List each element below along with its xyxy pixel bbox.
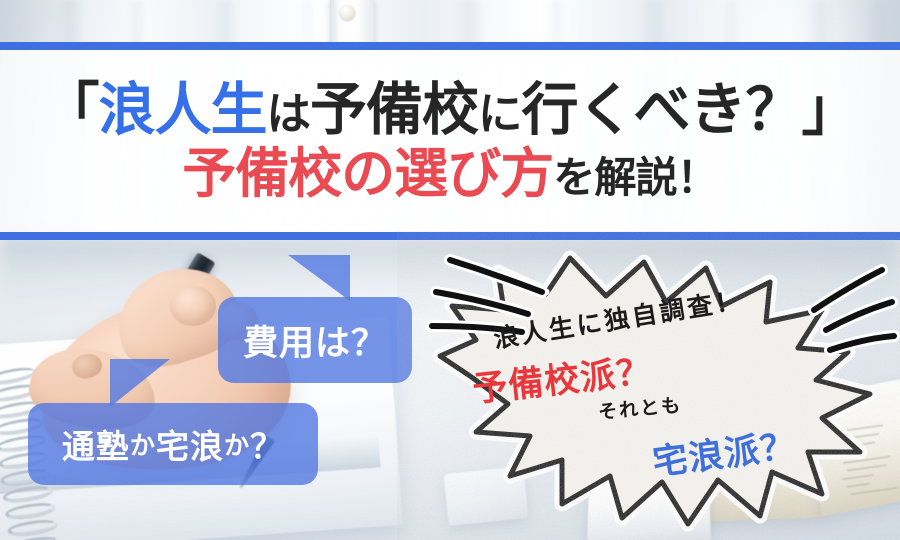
burst-option-blue: 宅浪派？ <box>649 417 798 485</box>
comic-burst: 浪人生に独自調査！ 予備校派？ それとも 宅浪派？ <box>430 248 900 540</box>
bubble-cost-tail <box>274 255 350 301</box>
spiral-coil <box>5 500 56 520</box>
bottom-accent-bar <box>0 232 900 240</box>
bubble-cost-label: 費用は？ <box>243 315 387 366</box>
bubble-juku-small1: か <box>130 426 156 462</box>
title-close-bracket: 」 <box>801 77 857 143</box>
bubble-cost[interactable]: 費用は？ <box>218 297 412 383</box>
title-highlight: 浪人生 <box>99 77 267 143</box>
title-particle-wa: は <box>267 89 310 140</box>
title-line-2: 予備校の選び方を解説！ <box>182 146 717 201</box>
title-particle-ni: に <box>478 89 521 140</box>
bubble-juku-mark: ？ <box>250 420 284 468</box>
bubble-study-style[interactable]: 通塾か宅浪か？ <box>28 403 318 485</box>
spiral-coil <box>7 517 58 537</box>
subtitle-red: 予備校の選び方 <box>182 142 553 205</box>
title-word-iku: 行くべき？ <box>521 77 801 143</box>
burst-text-group: 浪人生に独自調査！ 予備校派？ それとも 宅浪派？ <box>430 248 900 540</box>
title-open-bracket: 「 <box>43 77 99 143</box>
bubble-juku-mid: 宅浪 <box>156 420 224 468</box>
bubble-juku-small2: か <box>224 426 250 462</box>
banner-stage: 「浪人生は予備校に行くべき？」 予備校の選び方を解説！ 費用は？ 通塾か宅浪か？ <box>0 0 900 540</box>
knuckle <box>170 286 216 326</box>
spiral-coil <box>9 534 60 540</box>
bubble-juku-head: 通塾 <box>62 420 130 468</box>
title-line-1: 「浪人生は予備校に行くべき？」 <box>43 81 858 139</box>
top-accent-bar <box>0 42 900 50</box>
shirt-button <box>340 5 355 20</box>
burst-connector: それとも <box>597 390 683 424</box>
title-word-yobiko: 予備校 <box>310 77 478 143</box>
subtitle-black: を解説！ <box>553 153 717 202</box>
burst-survey-line: 浪人生に独自調査！ <box>491 281 746 356</box>
title-block: 「浪人生は予備校に行くべき？」 予備校の選び方を解説！ <box>0 50 900 232</box>
bubble-study-style-tail <box>110 359 186 407</box>
